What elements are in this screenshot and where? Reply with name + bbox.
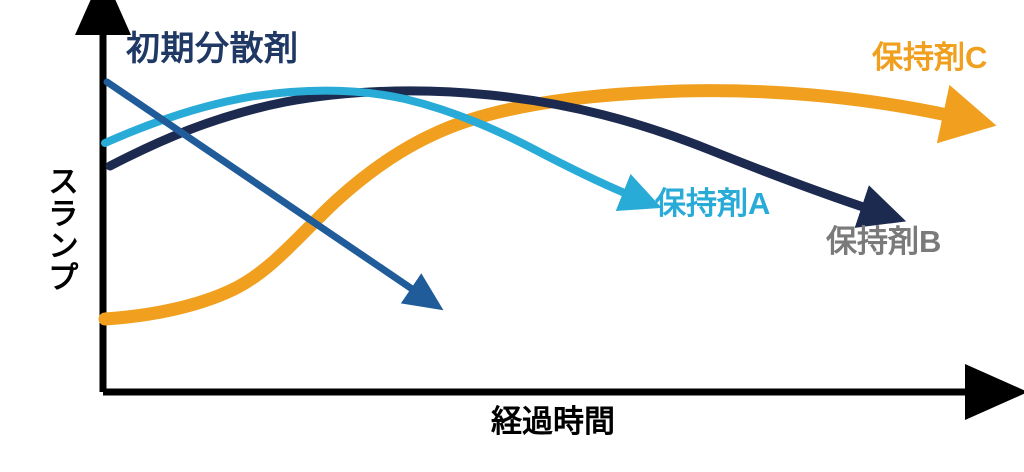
- series-line-retainer-c: [105, 91, 952, 319]
- series-label-retainer-c: 保持剤C: [872, 42, 987, 73]
- y-axis-label: スランプ: [45, 165, 76, 293]
- x-axis-label: 経過時間: [491, 406, 615, 437]
- series-label-initial-dispersant: 初期分散剤: [126, 32, 299, 66]
- series-line-initial-dispersant: [107, 82, 418, 293]
- series-label-retainer-a: 保持剤A: [655, 188, 770, 219]
- slump-retention-chart: 初期分散剤 保持剤A 保持剤B 保持剤C 経過時間 スランプ: [0, 0, 1024, 472]
- series-label-retainer-b: 保持剤B: [826, 226, 941, 257]
